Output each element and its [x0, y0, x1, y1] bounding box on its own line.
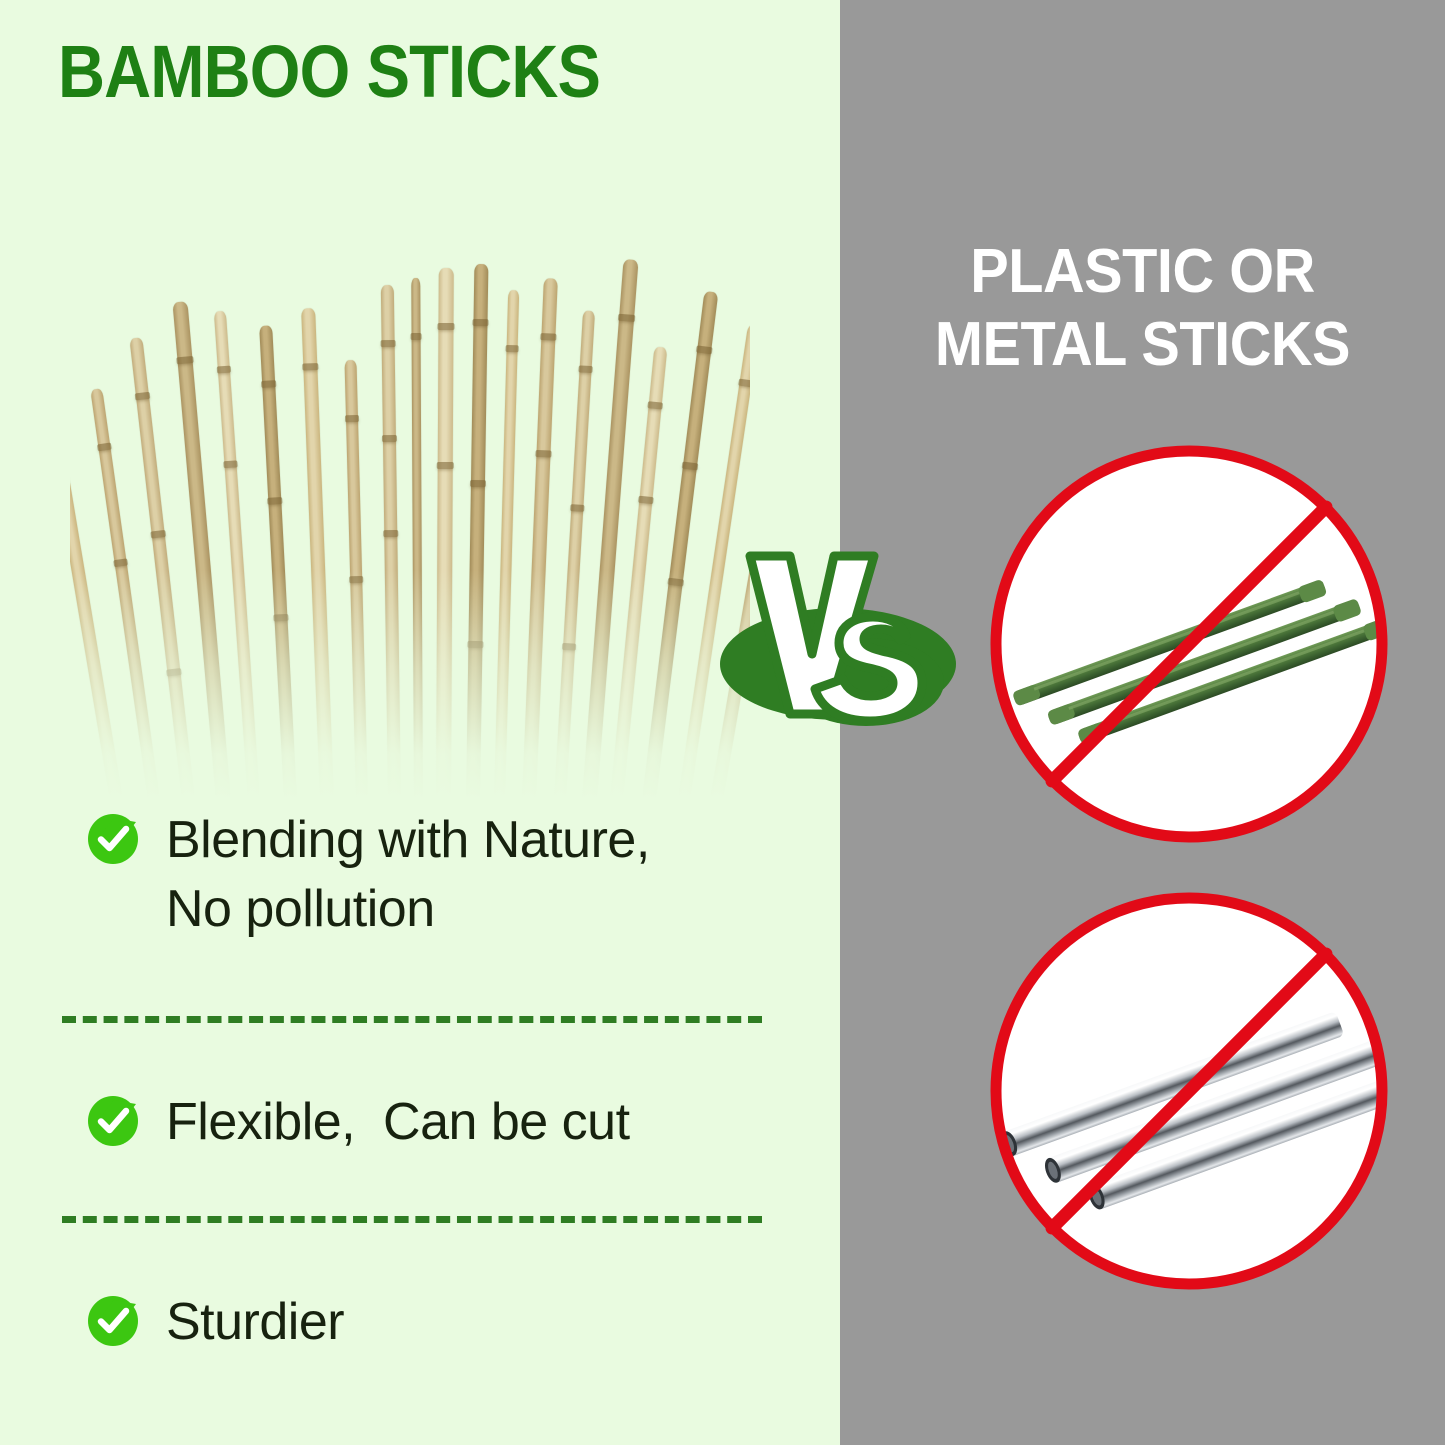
left-panel-bamboo: BAMBOO STICKS Blending with Nature, No p…: [0, 0, 840, 1445]
infographic-canvas: BAMBOO STICKS Blending with Nature, No p…: [0, 0, 1445, 1445]
feature-bullet-2: Flexible, Can be cut: [86, 1088, 786, 1157]
left-panel-title: BAMBOO STICKS: [58, 32, 600, 112]
bullet-divider-2: [62, 1216, 762, 1223]
feature-bullet-3: Sturdier: [86, 1288, 786, 1357]
right-panel-title: PLASTIC OR METAL STICKS: [861, 235, 1424, 381]
check-circle-icon: [86, 812, 140, 871]
right-panel-title-line-2: METAL STICKS: [861, 308, 1424, 381]
feature-bullet-1-label: Blending with Nature, No pollution: [166, 806, 650, 943]
bamboo-canes-photo: [70, 160, 750, 800]
right-panel-title-line-1: PLASTIC OR: [861, 235, 1424, 308]
feature-bullet-2-label: Flexible, Can be cut: [166, 1088, 630, 1157]
vs-badge-icon: [716, 536, 966, 736]
feature-bullet-1: Blending with Nature, No pollution: [86, 806, 786, 943]
prohibition-circle-metal-tubes: [988, 890, 1390, 1292]
bullet-divider-1: [62, 1016, 762, 1023]
check-circle-icon: [86, 1294, 140, 1353]
feature-bullet-3-label: Sturdier: [166, 1288, 344, 1357]
prohibition-circle-plastic-stakes: [988, 443, 1390, 845]
check-circle-icon: [86, 1094, 140, 1153]
